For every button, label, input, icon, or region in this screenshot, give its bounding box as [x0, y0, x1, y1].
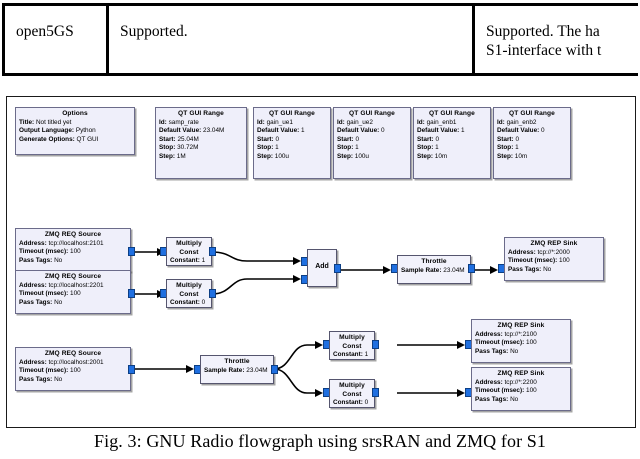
- range4-row-id: Id: gain_enb2: [494, 119, 570, 128]
- multiply2-title: Multiply Const: [330, 332, 374, 351]
- range3-value-step: 10m: [435, 153, 447, 160]
- range1-value-start: 0: [275, 136, 279, 143]
- throttle0-value-rate: 23.04M: [443, 267, 464, 274]
- range4-key-id: Id:: [497, 119, 505, 126]
- range3-key-step: Step:: [417, 153, 433, 160]
- options-value-title: Not titled yet: [36, 119, 72, 126]
- throttle0-title: Throttle: [398, 256, 470, 267]
- document-table-fragment: open5GS Supported. Supported. The ha S1-…: [2, 3, 638, 76]
- block-qt-gui-range-gain-ue1[interactable]: QT GUI Range Id: gain_ue1 Default Value:…: [253, 107, 331, 179]
- options-key-title: Title:: [19, 119, 34, 126]
- block-multiply-const-1[interactable]: Multiply Const Constant: 1: [166, 237, 212, 266]
- range0-row-default: Default Value: 23.04M: [156, 127, 246, 136]
- source2-value-timeout: 100: [70, 367, 81, 374]
- range0-title: QT GUI Range: [156, 108, 246, 119]
- range4-row-default: Default Value: 0: [494, 127, 570, 136]
- source0-row-address: Address: tcp://localhost:2101: [16, 240, 130, 249]
- range4-value-default: 0: [541, 127, 545, 134]
- range1-row-start: Start: 0: [254, 136, 330, 145]
- range0-value-id: samp_rate: [169, 119, 199, 126]
- options-key-generate: Generate Options:: [19, 136, 75, 143]
- range4-key-step: Step:: [497, 153, 513, 160]
- port-out-multiply3[interactable]: [372, 388, 379, 397]
- range4-row-step: Step: 10m: [494, 153, 570, 162]
- sink0-row-timeout: Timeout (msec): 100: [505, 257, 603, 266]
- multiply0-row-constant: Constant: 1: [167, 257, 211, 266]
- multiply0-value-constant: 1: [202, 257, 206, 264]
- sink2-key-passtags: Pass Tags:: [475, 396, 508, 403]
- table-divider-2: [472, 6, 475, 73]
- multiply1-title: Multiply Const: [167, 280, 211, 299]
- source2-row-passtags: Pass Tags: No: [16, 376, 130, 385]
- range3-value-id: gain_enb1: [427, 119, 457, 126]
- block-zmq-rep-sink-2100[interactable]: ZMQ REP Sink Address: tcp://*:2100 Timeo…: [471, 319, 571, 363]
- table-cell-right: Supported. The ha S1-interface with t: [486, 22, 640, 60]
- source1-title: ZMQ REQ Source: [16, 271, 130, 282]
- port-out-multiply2[interactable]: [372, 340, 379, 349]
- table-border-left: [2, 6, 5, 73]
- range0-row-start: Start: 25.04M: [156, 136, 246, 145]
- sink1-value-passtags: No: [510, 348, 518, 355]
- source1-key-timeout: Timeout (msec):: [19, 290, 68, 297]
- range1-key-start: Start:: [257, 136, 274, 143]
- range4-key-start: Start:: [497, 136, 514, 143]
- range2-row-default: Default Value: 0: [334, 127, 410, 136]
- range1-value-step: 100u: [275, 153, 289, 160]
- source0-key-passtags: Pass Tags:: [19, 257, 52, 264]
- sink1-row-passtags: Pass Tags: No: [472, 348, 570, 357]
- sink1-row-timeout: Timeout (msec): 100: [472, 339, 570, 348]
- port-out-source2[interactable]: [128, 365, 135, 374]
- port-out-multiply0[interactable]: [209, 247, 216, 256]
- range3-row-stop: Stop: 1: [414, 144, 490, 153]
- range0-key-step: Step:: [159, 153, 175, 160]
- multiply1-row-constant: Constant: 0: [167, 299, 211, 308]
- range0-value-step: 1M: [177, 153, 186, 160]
- range1-key-default: Default Value:: [257, 127, 299, 134]
- multiply0-key-constant: Constant:: [170, 257, 200, 264]
- multiply3-title: Multiply Const: [330, 380, 374, 399]
- source0-row-passtags: Pass Tags: No: [16, 257, 130, 266]
- range0-value-start: 25.04M: [177, 136, 198, 143]
- sink2-row-address: Address: tcp://*:2200: [472, 379, 570, 388]
- add-title: Add: [308, 250, 336, 272]
- range1-value-default: 1: [301, 127, 305, 134]
- sink1-title: ZMQ REP Sink: [472, 320, 570, 331]
- range4-row-stop: Stop: 1: [494, 144, 570, 153]
- range2-row-id: Id: gain_ue2: [334, 119, 410, 128]
- throttle0-key-rate: Sample Rate:: [401, 267, 442, 274]
- range2-row-step: Step: 100u: [334, 153, 410, 162]
- source0-title: ZMQ REQ Source: [16, 229, 130, 240]
- sink2-title: ZMQ REP Sink: [472, 368, 570, 379]
- source0-key-timeout: Timeout (msec):: [19, 248, 68, 255]
- throttle1-title: Throttle: [201, 356, 273, 367]
- options-row-generate: Generate Options: QT GUI: [16, 136, 134, 145]
- sink0-value-timeout: 100: [559, 257, 570, 264]
- range0-row-id: Id: samp_rate: [156, 119, 246, 128]
- range1-row-id: Id: gain_ue1: [254, 119, 330, 128]
- source2-key-passtags: Pass Tags:: [19, 376, 52, 383]
- block-multiply-const-3[interactable]: Multiply Const Constant: 1: [329, 331, 375, 360]
- source1-row-passtags: Pass Tags: No: [16, 299, 130, 308]
- range1-key-id: Id:: [257, 119, 265, 126]
- range3-value-start: 0: [435, 136, 439, 143]
- range4-value-step: 10m: [515, 153, 527, 160]
- block-multiply-const-2[interactable]: Multiply Const Constant: 0: [166, 279, 212, 308]
- port-out-source1[interactable]: [128, 289, 135, 298]
- source2-row-address: Address: tcp://localhost:2001: [16, 359, 130, 368]
- source0-value-timeout: 100: [70, 248, 81, 255]
- sink2-row-passtags: Pass Tags: No: [472, 396, 570, 405]
- block-zmq-req-source-2101[interactable]: ZMQ REQ Source Address: tcp://localhost:…: [15, 228, 131, 272]
- sink0-value-passtags: No: [543, 266, 551, 273]
- source1-row-timeout: Timeout (msec): 100: [16, 290, 130, 299]
- range2-title: QT GUI Range: [334, 108, 410, 119]
- sink0-row-address: Address: tcp://*:2000: [505, 249, 603, 258]
- multiply1-value-constant: 0: [202, 299, 206, 306]
- multiply2-row-constant: Constant: 1: [330, 351, 374, 360]
- sink1-value-timeout: 100: [526, 339, 537, 346]
- block-qt-gui-range-samp-rate[interactable]: QT GUI Range Id: samp_rate Default Value…: [155, 107, 247, 179]
- range2-value-stop: 1: [355, 144, 359, 151]
- block-zmq-rep-sink-2000[interactable]: ZMQ REP Sink Address: tcp://*:2000 Timeo…: [504, 237, 604, 281]
- range3-key-default: Default Value:: [417, 127, 459, 134]
- multiply3-key-constant: Constant:: [333, 399, 363, 406]
- source0-value-address: tcp://localhost:2101: [48, 240, 103, 247]
- range2-value-default: 0: [381, 127, 385, 134]
- throttle0-row-rate: Sample Rate: 23.04M: [398, 267, 470, 276]
- range1-key-step: Step:: [257, 153, 273, 160]
- figure-caption: Fig. 3: GNU Radio flowgraph using srsRAN…: [6, 431, 634, 452]
- range0-key-start: Start:: [159, 136, 176, 143]
- multiply3-value-constant: 0: [365, 399, 369, 406]
- range1-row-default: Default Value: 1: [254, 127, 330, 136]
- source1-value-address: tcp://localhost:2201: [48, 282, 103, 289]
- range2-key-stop: Stop:: [337, 144, 353, 151]
- source1-value-passtags: No: [54, 299, 62, 306]
- throttle1-key-rate: Sample Rate:: [204, 367, 245, 374]
- sink1-key-passtags: Pass Tags:: [475, 348, 508, 355]
- table-cell-supported: Supported.: [120, 22, 188, 41]
- range3-key-stop: Stop:: [417, 144, 433, 151]
- range4-value-id: gain_enb2: [507, 119, 537, 126]
- source0-row-timeout: Timeout (msec): 100: [16, 248, 130, 257]
- block-add[interactable]: Add: [307, 249, 337, 287]
- range4-key-stop: Stop:: [497, 144, 513, 151]
- multiply0-title: Multiply Const: [167, 238, 211, 257]
- range4-row-start: Start: 0: [494, 136, 570, 145]
- sink0-key-passtags: Pass Tags:: [508, 266, 541, 273]
- range0-row-stop: Stop: 30.72M: [156, 144, 246, 153]
- range4-title: QT GUI Range: [494, 108, 570, 119]
- range2-key-id: Id:: [337, 119, 345, 126]
- sink1-key-timeout: Timeout (msec):: [475, 339, 524, 346]
- block-qt-gui-range-gain-enb1[interactable]: QT GUI Range Id: gain_enb1 Default Value…: [413, 107, 491, 179]
- options-key-language: Output Language:: [19, 127, 74, 134]
- block-zmq-req-source-2201[interactable]: ZMQ REQ Source Address: tcp://localhost:…: [15, 270, 131, 314]
- source1-row-address: Address: tcp://localhost:2201: [16, 282, 130, 291]
- range4-value-start: 0: [515, 136, 519, 143]
- gnuradio-flowgraph-canvas[interactable]: Options Title: Not titled yet Output Lan…: [6, 96, 636, 428]
- sink2-value-address: tcp://*:2200: [504, 379, 536, 386]
- throttle1-row-rate: Sample Rate: 23.04M: [201, 367, 273, 376]
- port-out-add[interactable]: [334, 264, 341, 273]
- port-out-throttle1[interactable]: [271, 365, 278, 374]
- range3-key-id: Id:: [417, 119, 425, 126]
- range3-row-default: Default Value: 1: [414, 127, 490, 136]
- sink1-row-address: Address: tcp://*:2100: [472, 331, 570, 340]
- block-throttle-2[interactable]: Throttle Sample Rate: 23.04M: [200, 355, 274, 384]
- block-multiply-const-4[interactable]: Multiply Const Constant: 0: [329, 379, 375, 408]
- range2-row-start: Start: 0: [334, 136, 410, 145]
- range1-key-stop: Stop:: [257, 144, 273, 151]
- block-zmq-req-source-2001[interactable]: ZMQ REQ Source Address: tcp://localhost:…: [15, 347, 131, 391]
- source2-title: ZMQ REQ Source: [16, 348, 130, 359]
- block-throttle-1[interactable]: Throttle Sample Rate: 23.04M: [397, 255, 471, 284]
- throttle1-value-rate: 23.04M: [246, 367, 267, 374]
- options-value-generate: QT GUI: [77, 136, 99, 143]
- range3-row-step: Step: 10m: [414, 153, 490, 162]
- source2-key-address: Address:: [19, 359, 47, 366]
- range1-row-step: Step: 100u: [254, 153, 330, 162]
- range0-value-default: 23.04M: [203, 127, 224, 134]
- block-options[interactable]: Options Title: Not titled yet Output Lan…: [15, 107, 135, 155]
- sink0-row-passtags: Pass Tags: No: [505, 266, 603, 275]
- sink0-title: ZMQ REP Sink: [505, 238, 603, 249]
- sink2-key-timeout: Timeout (msec):: [475, 387, 524, 394]
- multiply2-value-constant: 1: [365, 351, 369, 358]
- range3-title: QT GUI Range: [414, 108, 490, 119]
- multiply3-row-constant: Constant: 0: [330, 399, 374, 408]
- range0-value-stop: 30.72M: [177, 144, 198, 151]
- range1-value-stop: 1: [275, 144, 279, 151]
- multiply2-key-constant: Constant:: [333, 351, 363, 358]
- source2-key-timeout: Timeout (msec):: [19, 367, 68, 374]
- options-row-language: Output Language: Python: [16, 127, 134, 136]
- range3-row-start: Start: 0: [414, 136, 490, 145]
- range4-value-stop: 1: [515, 144, 519, 151]
- options-title: Options: [16, 108, 134, 119]
- port-out-source0[interactable]: [128, 247, 135, 256]
- range3-value-default: 1: [461, 127, 465, 134]
- sink0-key-address: Address:: [508, 249, 536, 256]
- source0-key-address: Address:: [19, 240, 47, 247]
- range0-key-stop: Stop:: [159, 144, 175, 151]
- source1-key-passtags: Pass Tags:: [19, 299, 52, 306]
- range0-key-id: Id:: [159, 119, 167, 126]
- source1-value-timeout: 100: [70, 290, 81, 297]
- port-out-throttle0[interactable]: [468, 264, 475, 273]
- range3-row-id: Id: gain_enb1: [414, 119, 490, 128]
- options-row-title: Title: Not titled yet: [16, 119, 134, 128]
- source1-key-address: Address:: [19, 282, 47, 289]
- range2-row-stop: Stop: 1: [334, 144, 410, 153]
- multiply1-key-constant: Constant:: [170, 299, 200, 306]
- block-qt-gui-range-gain-ue2[interactable]: QT GUI Range Id: gain_ue2 Default Value:…: [333, 107, 411, 179]
- range2-key-start: Start:: [337, 136, 354, 143]
- range2-value-start: 0: [355, 136, 359, 143]
- source2-value-passtags: No: [54, 376, 62, 383]
- range0-row-step: Step: 1M: [156, 153, 246, 162]
- range4-key-default: Default Value:: [497, 127, 539, 134]
- sink0-value-address: tcp://*:2000: [537, 249, 569, 256]
- table-cell-open5gs: open5GS: [16, 22, 74, 41]
- range2-value-step: 100u: [355, 153, 369, 160]
- sink0-key-timeout: Timeout (msec):: [508, 257, 557, 264]
- source2-row-timeout: Timeout (msec): 100: [16, 367, 130, 376]
- options-value-language: Python: [76, 127, 96, 134]
- range3-key-start: Start:: [417, 136, 434, 143]
- sink2-value-passtags: No: [510, 396, 518, 403]
- sink1-value-address: tcp://*:2100: [504, 331, 536, 338]
- block-zmq-rep-sink-2200[interactable]: ZMQ REP Sink Address: tcp://*:2200 Timeo…: [471, 367, 571, 411]
- range2-value-id: gain_ue2: [347, 119, 373, 126]
- range1-value-id: gain_ue1: [267, 119, 293, 126]
- sink2-row-timeout: Timeout (msec): 100: [472, 387, 570, 396]
- range3-value-stop: 1: [435, 144, 439, 151]
- sink2-key-address: Address:: [475, 379, 503, 386]
- range1-title: QT GUI Range: [254, 108, 330, 119]
- block-qt-gui-range-gain-enb2[interactable]: QT GUI Range Id: gain_enb2 Default Value…: [493, 107, 571, 179]
- range1-row-stop: Stop: 1: [254, 144, 330, 153]
- sink1-key-address: Address:: [475, 331, 503, 338]
- table-divider-1: [106, 6, 109, 73]
- range0-key-default: Default Value:: [159, 127, 201, 134]
- sink2-value-timeout: 100: [526, 387, 537, 394]
- source2-value-address: tcp://localhost:2001: [48, 359, 103, 366]
- port-out-multiply1[interactable]: [209, 289, 216, 298]
- source0-value-passtags: No: [54, 257, 62, 264]
- range2-key-default: Default Value:: [337, 127, 379, 134]
- range2-key-step: Step:: [337, 153, 353, 160]
